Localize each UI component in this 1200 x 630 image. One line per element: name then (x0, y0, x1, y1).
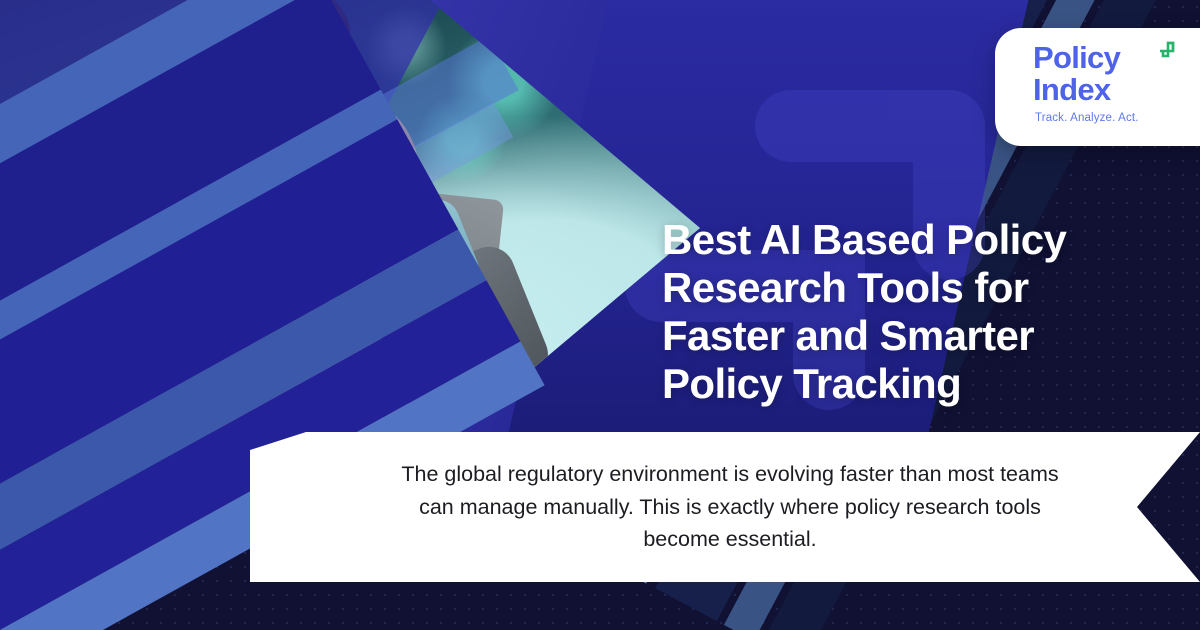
headline-line-4: Policy Tracking (662, 360, 1162, 408)
description-banner: The global regulatory environment is evo… (250, 432, 1200, 582)
banner-text: The global regulatory environment is evo… (380, 432, 1080, 582)
social-share-card: The global regulatory environment is evo… (0, 0, 1200, 630)
brand-logo-card[interactable]: Policy Index Track. Analyze. Act. (995, 28, 1200, 146)
brand-tagline: Track. Analyze. Act. (995, 112, 1200, 124)
page-title: Best AI Based Policy Research Tools for … (662, 216, 1162, 408)
brand-name-line-2: Index (1033, 74, 1200, 106)
headline-line-2: Research Tools for (662, 264, 1162, 312)
headline-line-3: Faster and Smarter (662, 312, 1162, 360)
headline-line-1: Best AI Based Policy (662, 216, 1162, 264)
green-corner-arrow-icon (1156, 38, 1182, 64)
